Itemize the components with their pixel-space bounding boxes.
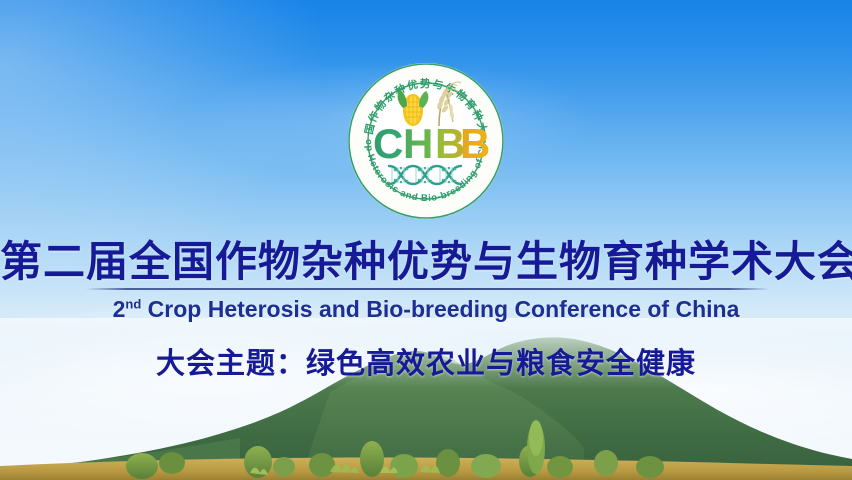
title-divider — [86, 288, 770, 290]
conference-title-en: 2nd Crop Heterosis and Bio-breeding Conf… — [0, 296, 852, 323]
ordinal-suffix: nd — [125, 296, 141, 311]
logo-monogram: C H B B — [373, 120, 490, 167]
svg-text:C: C — [373, 120, 403, 167]
conference-logo: 全国作物杂种优势与生物育种大会 Crop Heterosis and Bio-b… — [347, 62, 505, 220]
conference-poster: 全国作物杂种优势与生物育种大会 Crop Heterosis and Bio-b… — [0, 0, 852, 480]
svg-text:B: B — [460, 120, 490, 167]
title-en-rest: Crop Heterosis and Bio-breeding Conferen… — [141, 296, 739, 322]
conference-theme: 大会主题：绿色高效农业与粮食安全健康 — [0, 340, 852, 382]
conference-title-cn: 第二届全国作物杂种优势与生物育种学术大会 — [0, 228, 852, 289]
svg-text:H: H — [403, 120, 433, 167]
ordinal-number: 2 — [113, 296, 126, 322]
logo-emblem: 全国作物杂种优势与生物育种大会 Crop Heterosis and Bio-b… — [347, 62, 505, 220]
